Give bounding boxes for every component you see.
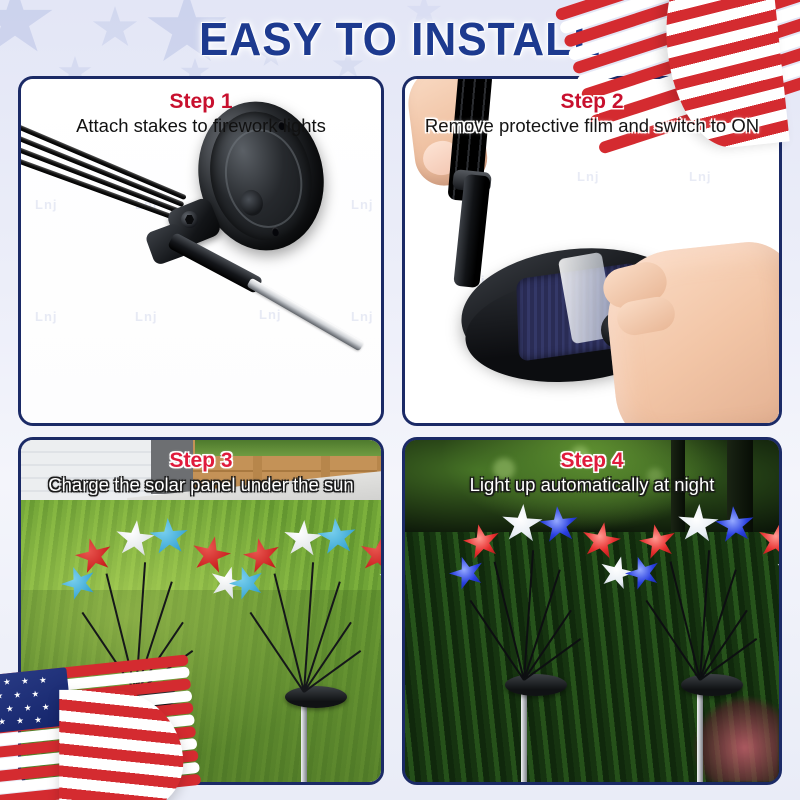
solar-pod [505, 674, 567, 696]
watermark: Lnj [35, 309, 58, 324]
star-light [636, 520, 681, 563]
star-light [500, 503, 545, 546]
canton-star [42, 703, 50, 711]
step-4-panel: Step 4 Light up automatically at night [402, 437, 782, 785]
step-4-photo [405, 440, 779, 782]
star-light [240, 534, 285, 577]
canton-star [13, 691, 21, 699]
canton-star [0, 718, 6, 726]
star-light [373, 562, 384, 604]
star-light [356, 533, 384, 577]
star-light [713, 504, 757, 546]
step-1-panel: Lnj Lnj Lnj Lnj Lnj Lnj Lnj Lnj [18, 76, 384, 426]
stake-rod [301, 702, 307, 785]
solar-pod [285, 686, 347, 708]
hedge-row [195, 440, 384, 456]
star-stake-right [643, 494, 782, 784]
star-light [460, 520, 505, 563]
star-light [676, 503, 721, 546]
watermark: Lnj [135, 309, 158, 324]
star-light [771, 552, 782, 594]
canton-star [39, 676, 47, 684]
canton-star [3, 678, 11, 686]
star-light [282, 519, 325, 560]
watermark: Lnj [351, 309, 374, 324]
star-light [578, 519, 624, 563]
stake-rod [521, 690, 527, 785]
canton-star [31, 690, 39, 698]
star-light [71, 534, 117, 578]
canton-star [21, 677, 29, 685]
canton-star [34, 716, 42, 724]
star-light [754, 519, 782, 563]
canton-star [0, 692, 3, 700]
canton-star [24, 704, 32, 712]
bokeh-light [571, 446, 589, 464]
watermark: Lnj [577, 169, 600, 184]
canton-star [16, 717, 24, 725]
step-1-illustration: Lnj Lnj Lnj Lnj Lnj Lnj Lnj Lnj [21, 79, 381, 423]
house-door [151, 440, 197, 494]
star-light [113, 518, 157, 560]
bokeh-light [647, 468, 663, 484]
infographic-canvas: EASY TO INSTALL Lnj Lnj Lnj Lnj Lnj Lnj … [0, 0, 800, 800]
solar-pod [681, 674, 743, 696]
watermark: Lnj [689, 169, 712, 184]
bokeh-light [493, 458, 515, 480]
star-stake-right [247, 504, 384, 784]
watermark: Lnj [259, 307, 282, 322]
star-light [537, 504, 581, 546]
star-light [148, 517, 191, 558]
hex-screw [181, 211, 198, 228]
watermark: Lnj [351, 197, 374, 212]
star-stake-left [467, 494, 637, 784]
star-light [187, 532, 234, 577]
stake-rod [697, 690, 703, 785]
flag-bottom-left [0, 656, 183, 800]
star-light [315, 516, 359, 558]
watermark: Lnj [35, 197, 58, 212]
canton-star [6, 705, 14, 713]
